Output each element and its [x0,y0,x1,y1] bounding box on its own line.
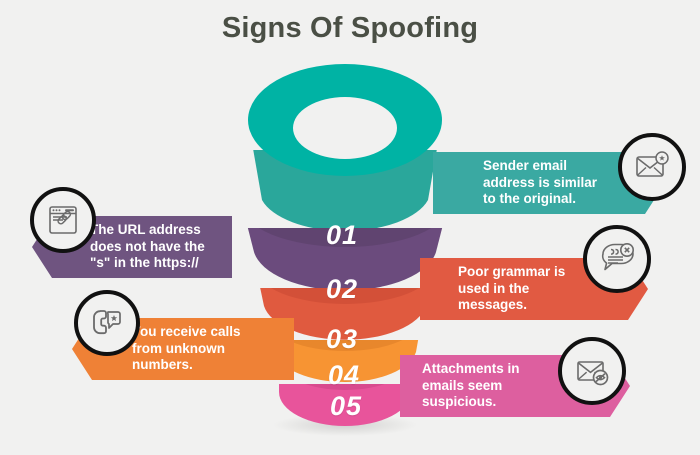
callout-text-05: Attachments in emails seem suspicious. [422,361,520,411]
infographic-canvas: Signs Of Spoofing [0,0,700,450]
email-hidden-icon[interactable] [558,337,626,405]
funnel-number-01: 01 [326,220,358,251]
funnel-number-03: 03 [326,324,358,355]
callout-text-04: You receive calls from unknown numbers. [132,324,241,374]
email-at-icon[interactable] [618,133,686,201]
funnel-top-ring [248,64,442,176]
phone-unknown-icon[interactable] [74,290,140,356]
speech-bubble-error-icon[interactable] [583,225,651,293]
funnel-number-02: 02 [326,274,358,305]
funnel-number-05: 05 [330,391,362,422]
funnel-number-04: 04 [328,360,360,391]
browser-link-icon[interactable] [30,187,96,253]
callout-text-02: The URL address does not have the "s" in… [90,222,205,272]
callout-text-01: Sender email address is similar to the o… [483,158,597,208]
callout-text-03: Poor grammar is used in the messages. [458,264,565,314]
